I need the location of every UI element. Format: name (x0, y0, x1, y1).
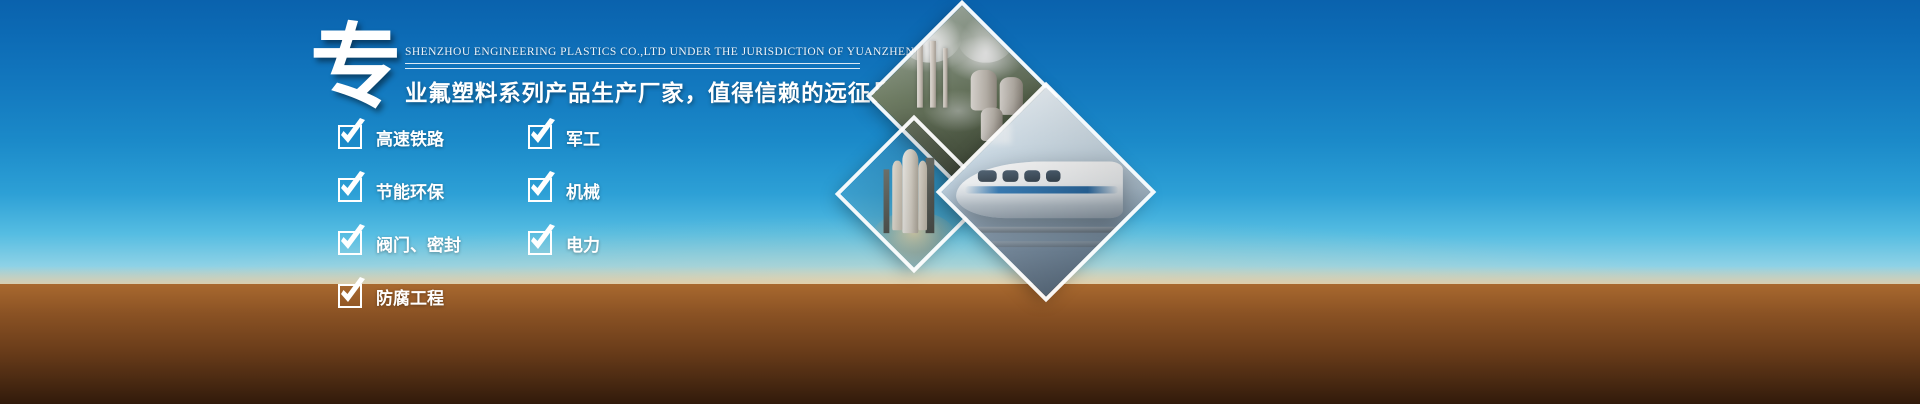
launch-gantry (884, 170, 890, 233)
feature-label: 机械 (566, 178, 600, 203)
checkbox-checked-icon (338, 231, 362, 255)
feature-item[interactable]: 阀门、密封 (338, 226, 461, 260)
checkbox-checked-icon (338, 284, 362, 308)
solid-rocket-booster (893, 161, 902, 230)
train-window (1003, 171, 1018, 182)
feature-label: 节能环保 (376, 178, 444, 203)
promo-banner: 专 SHENZHOU ENGINEERING PLASTICS CO.,LTD … (0, 0, 1920, 404)
smoke-plume (899, 7, 962, 63)
checkbox-checked-icon (528, 231, 552, 255)
train-window (1046, 171, 1061, 182)
smoke-stack (917, 44, 923, 107)
train-livery-stripe (964, 186, 1118, 195)
checkbox-checked-icon (528, 125, 552, 149)
train-window (1025, 171, 1040, 182)
feature-item[interactable]: 节能环保 (338, 173, 461, 207)
brand-character: 专 (310, 22, 402, 114)
cooling-tower (999, 77, 1023, 114)
railway-track (941, 226, 1150, 232)
feature-item[interactable]: 防腐工程 (338, 279, 461, 313)
cooling-tower (971, 70, 997, 111)
divider-rule (405, 63, 860, 69)
smoke-stack (930, 40, 936, 107)
railway-track (941, 241, 1150, 246)
smoke-stack (943, 48, 948, 107)
checkbox-checked-icon (528, 178, 552, 202)
feature-label: 阀门、密封 (376, 231, 461, 256)
checkbox-checked-icon (338, 125, 362, 149)
feature-item[interactable]: 军工 (528, 120, 600, 154)
train-carriage (956, 162, 1123, 218)
feature-column-right: 军工 机械 电力 (528, 120, 600, 279)
checkbox-checked-icon (338, 178, 362, 202)
launch-exhaust-glow (872, 212, 956, 263)
feature-label: 军工 (566, 125, 600, 150)
feature-label: 电力 (566, 231, 600, 256)
shuttle-external-tank (902, 149, 919, 233)
feature-item[interactable]: 电力 (528, 226, 600, 260)
solid-rocket-booster (919, 161, 928, 230)
photo-gallery (820, 10, 1240, 290)
smoke-plume (958, 14, 1014, 62)
train-window (977, 171, 996, 182)
feature-label: 高速铁路 (376, 125, 444, 150)
feature-label: 防腐工程 (376, 284, 444, 309)
feature-column-left: 高速铁路 节能环保 阀门、密封 防腐工程 (338, 120, 461, 332)
launch-gantry (926, 158, 934, 233)
feature-item[interactable]: 机械 (528, 173, 600, 207)
desert-ground (0, 284, 1920, 404)
feature-item[interactable]: 高速铁路 (338, 120, 461, 154)
